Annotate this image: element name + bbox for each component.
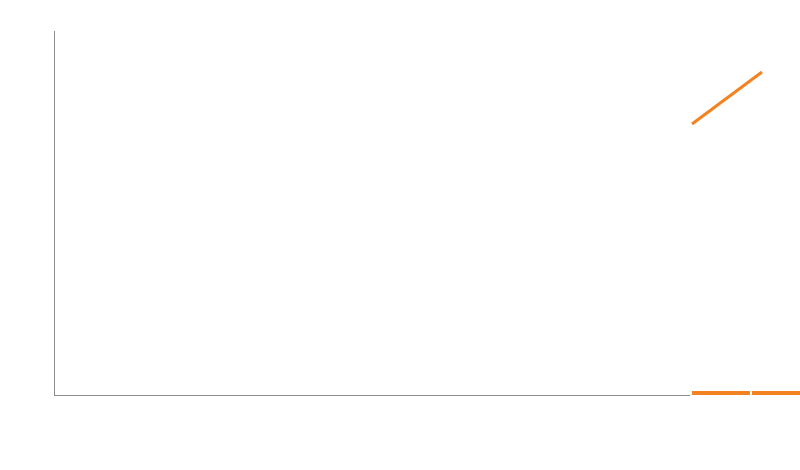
qe4-bar-left [692, 391, 750, 395]
qe4-trend-line [692, 72, 762, 124]
plot-svg [55, 31, 691, 396]
plot-area [54, 31, 690, 396]
qe4-bar-right [752, 391, 800, 395]
chart-root [0, 0, 800, 470]
